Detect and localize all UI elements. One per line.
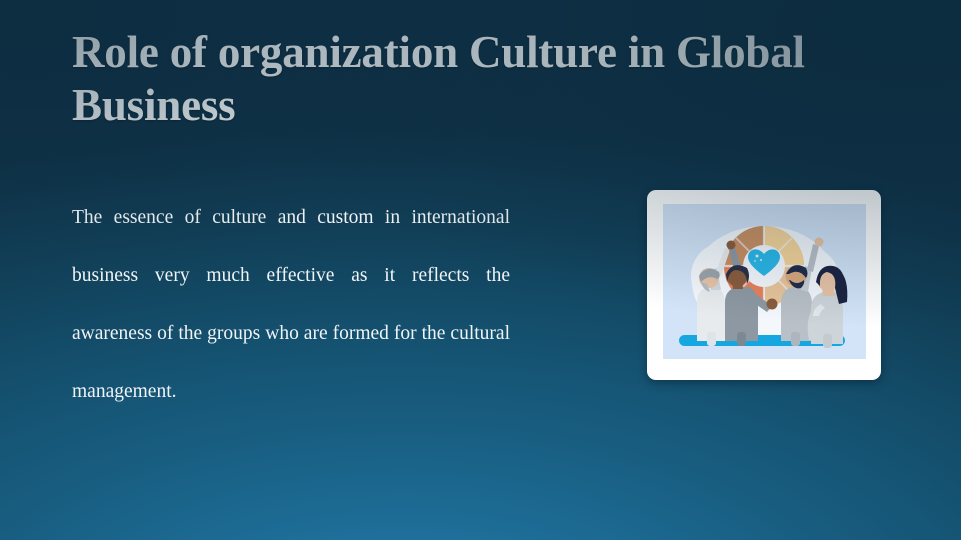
page-title: Role of organization Culture in Global B… (72, 26, 912, 132)
presentation-slide: Role of organization Culture in Global B… (0, 0, 961, 540)
diversity-teamwork-illustration (663, 204, 866, 359)
illustration-frame (663, 204, 866, 359)
body-paragraph: The essence of culture and custom in int… (72, 189, 510, 421)
illustration-card (647, 190, 881, 380)
